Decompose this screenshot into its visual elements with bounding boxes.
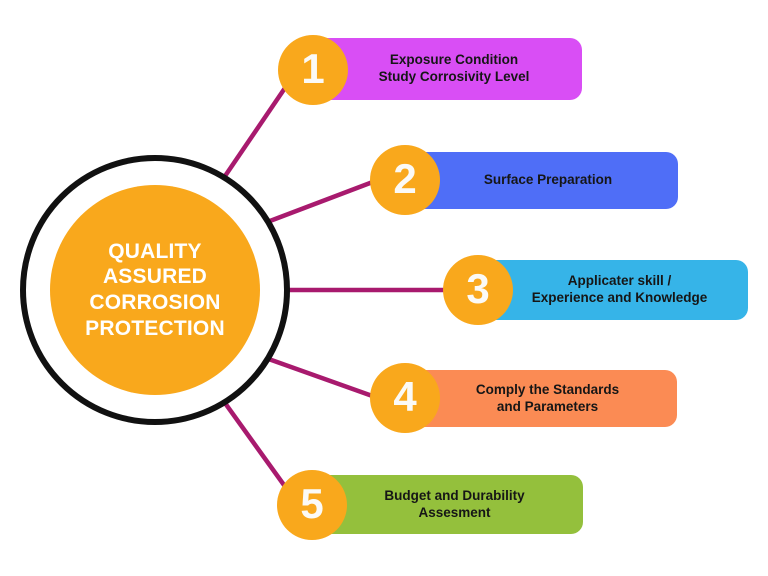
step-number-5: 5 xyxy=(300,483,323,525)
hub-label: QUALITY ASSURED CORROSION PROTECTION xyxy=(79,239,231,341)
step-number-3: 3 xyxy=(466,268,489,310)
step-badge-3[interactable]: 3 xyxy=(443,255,513,325)
step-label-5: Budget and Durability Assesment xyxy=(344,488,538,522)
diagram-canvas: QUALITY ASSURED CORROSION PROTECTION Exp… xyxy=(0,0,768,576)
step-label-1: Exposure Condition Study Corrosivity Lev… xyxy=(339,52,544,86)
step-number-2: 2 xyxy=(393,158,416,200)
step-badge-1[interactable]: 1 xyxy=(278,35,348,105)
step-label-3: Applicater skill / Experience and Knowle… xyxy=(492,273,722,307)
hub-circle: QUALITY ASSURED CORROSION PROTECTION xyxy=(50,185,260,395)
step-badge-2[interactable]: 2 xyxy=(370,145,440,215)
step-number-4: 4 xyxy=(393,376,416,418)
step-number-1: 1 xyxy=(301,48,324,90)
connector-line-4 xyxy=(263,357,378,398)
step-badge-4[interactable]: 4 xyxy=(370,363,440,433)
step-label-2: Surface Preparation xyxy=(444,172,626,189)
step-label-4: Comply the Standards and Parameters xyxy=(436,382,633,416)
step-badge-5[interactable]: 5 xyxy=(277,470,347,540)
connector-line-2 xyxy=(262,180,378,224)
